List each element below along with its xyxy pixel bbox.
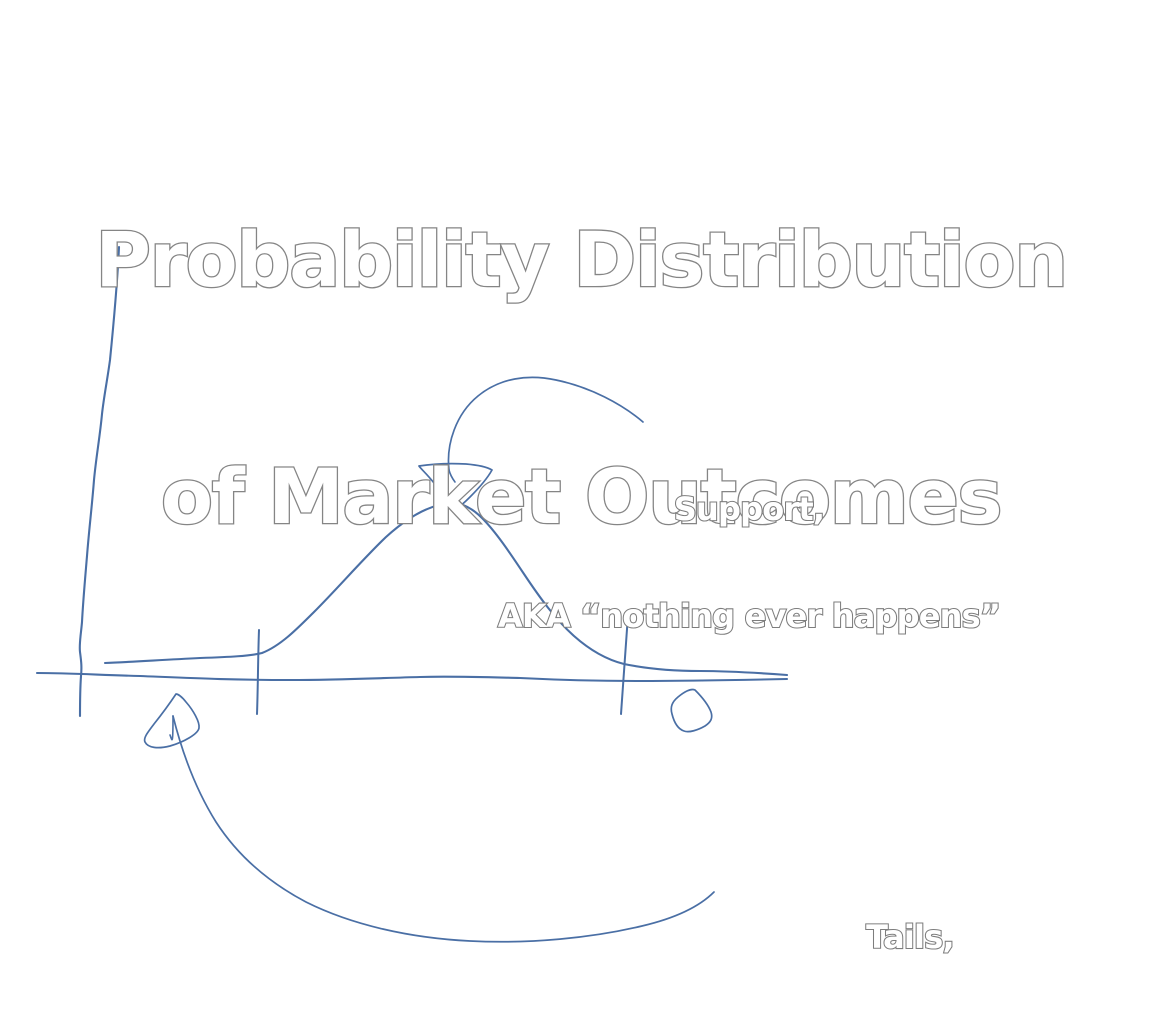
tails-left-arrow-stem [170,716,173,740]
tails-arrow-curve [173,716,714,942]
support-annotation-line-1: Support, [469,492,1029,528]
support-annotation-line-2: AKA “nothing ever happens” [469,599,1029,635]
support-annotation: Support, AKA “nothing ever happens” [469,420,1029,707]
tails-annotation-line-1: Tails, [700,920,1120,956]
tails-left-arrowhead-icon [145,694,200,748]
whiteboard-canvas: Probability Distribution of Market Outco… [0,0,1162,1018]
title-line-1: Probability Distribution [0,220,1162,299]
tails-annotation: Tails, AKA “the black swan” (you are her… [700,848,1120,1018]
